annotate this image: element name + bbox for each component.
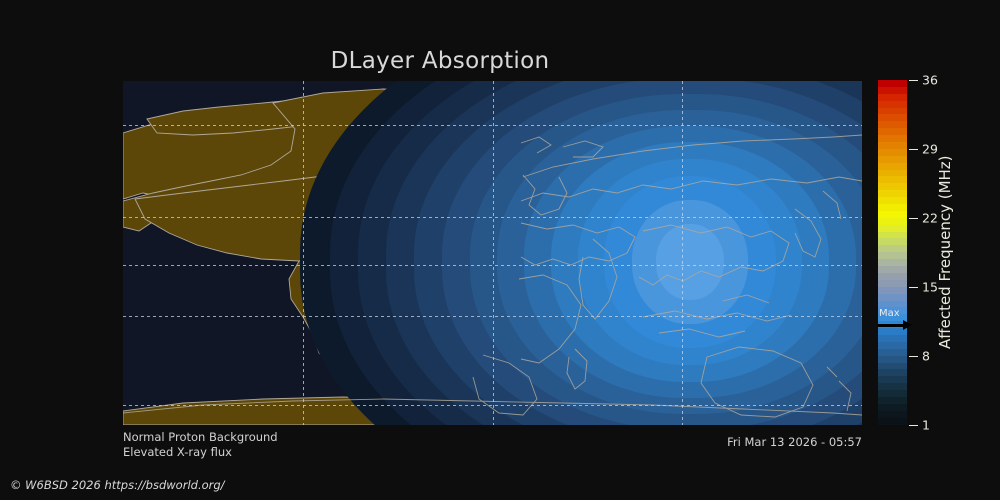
colorbar-band-24: [878, 245, 907, 252]
parallel-line-2: [123, 265, 862, 266]
absorption-ring-13: [656, 224, 724, 300]
colorbar-band-15: [878, 183, 907, 190]
colorbar-band-17: [878, 197, 907, 204]
colorbar-band-9: [878, 142, 907, 149]
xray-status-note: Elevated X-ray flux: [123, 445, 232, 459]
parallel-line-4: [123, 405, 862, 406]
world-map[interactable]: [123, 81, 862, 425]
colorbar-band-39: [878, 349, 907, 356]
colorbar-band-40: [878, 356, 907, 363]
proton-status-note: Normal Proton Background: [123, 430, 278, 444]
colorbar-band-8: [878, 135, 907, 142]
colorbar-band-2: [878, 94, 907, 101]
max-marker-arrow-shaft: [878, 324, 906, 327]
dlayer-absorption-map-page: DLayer Absorption: [0, 0, 1000, 500]
max-marker-arrow-head: [903, 320, 912, 330]
colorbar-band-19: [878, 211, 907, 218]
colorbar-tick-15: [909, 287, 918, 288]
colorbar-band-41: [878, 363, 907, 370]
colorbar-band-1: [878, 87, 907, 94]
colorbar-tick-1: [909, 425, 918, 426]
colorbar-band-7: [878, 128, 907, 135]
parallel-line-1: [123, 217, 862, 218]
colorbar-band-3: [878, 101, 907, 108]
colorbar-band-14: [878, 176, 907, 183]
colorbar-axis-label: Affected Frequency (MHz): [932, 70, 958, 435]
max-marker: Max: [876, 308, 916, 334]
copyright-footer: © W6BSD 2026 https://bsdworld.org/: [10, 478, 225, 492]
colorbar-band-18: [878, 204, 907, 211]
parallel-line-3: [123, 316, 862, 317]
colorbar-band-28: [878, 273, 907, 280]
colorbar-tick-36: [909, 80, 918, 81]
colorbar-band-13: [878, 170, 907, 177]
timestamp: Fri Mar 13 2026 - 05:57: [727, 435, 862, 449]
colorbar-band-21: [878, 225, 907, 232]
colorbar-band-48: [878, 411, 907, 418]
meridian-line-0: [303, 81, 304, 425]
colorbar-band-45: [878, 390, 907, 397]
colorbar-band-37: [878, 335, 907, 342]
colorbar-band-29: [878, 280, 907, 287]
max-marker-label: Max: [879, 308, 900, 319]
colorbar-band-6: [878, 121, 907, 128]
colorbar-band-0: [878, 80, 907, 87]
colorbar[interactable]: [878, 80, 907, 425]
colorbar-tick-29: [909, 149, 918, 150]
colorbar-band-25: [878, 252, 907, 259]
colorbar-band-22: [878, 232, 907, 239]
colorbar-band-47: [878, 404, 907, 411]
colorbar-band-43: [878, 376, 907, 383]
meridian-line-2: [682, 81, 683, 425]
colorbar-band-5: [878, 114, 907, 121]
meridian-line-1: [493, 81, 494, 425]
colorbar-band-44: [878, 383, 907, 390]
colorbar-band-46: [878, 397, 907, 404]
colorbar-band-27: [878, 266, 907, 273]
colorbar-band-42: [878, 369, 907, 376]
colorbar-band-30: [878, 287, 907, 294]
colorbar-tick-label-1: 1: [922, 418, 930, 433]
colorbar-band-32: [878, 301, 907, 308]
colorbar-tick-label-8: 8: [922, 349, 930, 364]
colorbar-band-26: [878, 259, 907, 266]
colorbar-band-10: [878, 149, 907, 156]
colorbar-band-16: [878, 190, 907, 197]
colorbar-band-23: [878, 238, 907, 245]
colorbar-band-38: [878, 342, 907, 349]
colorbar-band-11: [878, 156, 907, 163]
colorbar-band-49: [878, 418, 907, 425]
colorbar-band-12: [878, 163, 907, 170]
colorbar-band-4: [878, 108, 907, 115]
colorbar-tick-8: [909, 356, 918, 357]
colorbar-band-31: [878, 294, 907, 301]
colorbar-band-20: [878, 218, 907, 225]
parallel-line-0: [123, 125, 862, 126]
colorbar-tick-22: [909, 218, 918, 219]
page-title: DLayer Absorption: [0, 48, 880, 74]
